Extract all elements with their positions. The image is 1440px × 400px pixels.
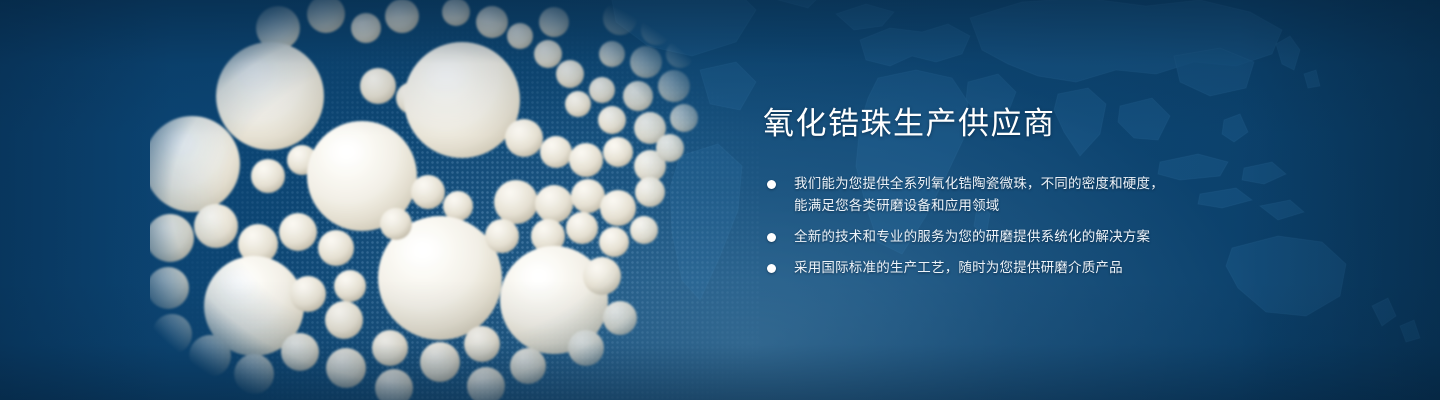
hero-banner: 氧化锆珠生产供应商 我们能为您提供全系列氧化锆陶瓷微珠，不同的密度和硬度， 能满… bbox=[0, 0, 1440, 400]
list-item-line: 采用国际标准的生产工艺，随时为您提供研磨介质产品 bbox=[794, 257, 1233, 279]
list-item-line: 全新的技术和专业的服务为您的研磨提供系统化的解决方案 bbox=[794, 226, 1233, 248]
dot-bullet-icon bbox=[767, 180, 776, 189]
list-item: 全新的技术和专业的服务为您的研磨提供系统化的解决方案 bbox=[767, 226, 1233, 248]
feature-list: 我们能为您提供全系列氧化锆陶瓷微珠，不同的密度和硬度， 能满足您各类研磨设备和应… bbox=[767, 173, 1233, 279]
list-item-line: 我们能为您提供全系列氧化锆陶瓷微珠，不同的密度和硬度， bbox=[794, 173, 1233, 195]
list-item: 我们能为您提供全系列氧化锆陶瓷微珠，不同的密度和硬度， 能满足您各类研磨设备和应… bbox=[767, 173, 1233, 217]
dot-bullet-icon bbox=[767, 233, 776, 242]
dot-bullet-icon bbox=[767, 264, 776, 273]
list-item: 采用国际标准的生产工艺，随时为您提供研磨介质产品 bbox=[767, 257, 1233, 279]
page-title: 氧化锆珠生产供应商 bbox=[763, 104, 1233, 144]
list-item-line: 能满足您各类研磨设备和应用领域 bbox=[794, 195, 1233, 217]
banner-copy: 氧化锆珠生产供应商 我们能为您提供全系列氧化锆陶瓷微珠，不同的密度和硬度， 能满… bbox=[763, 104, 1233, 279]
